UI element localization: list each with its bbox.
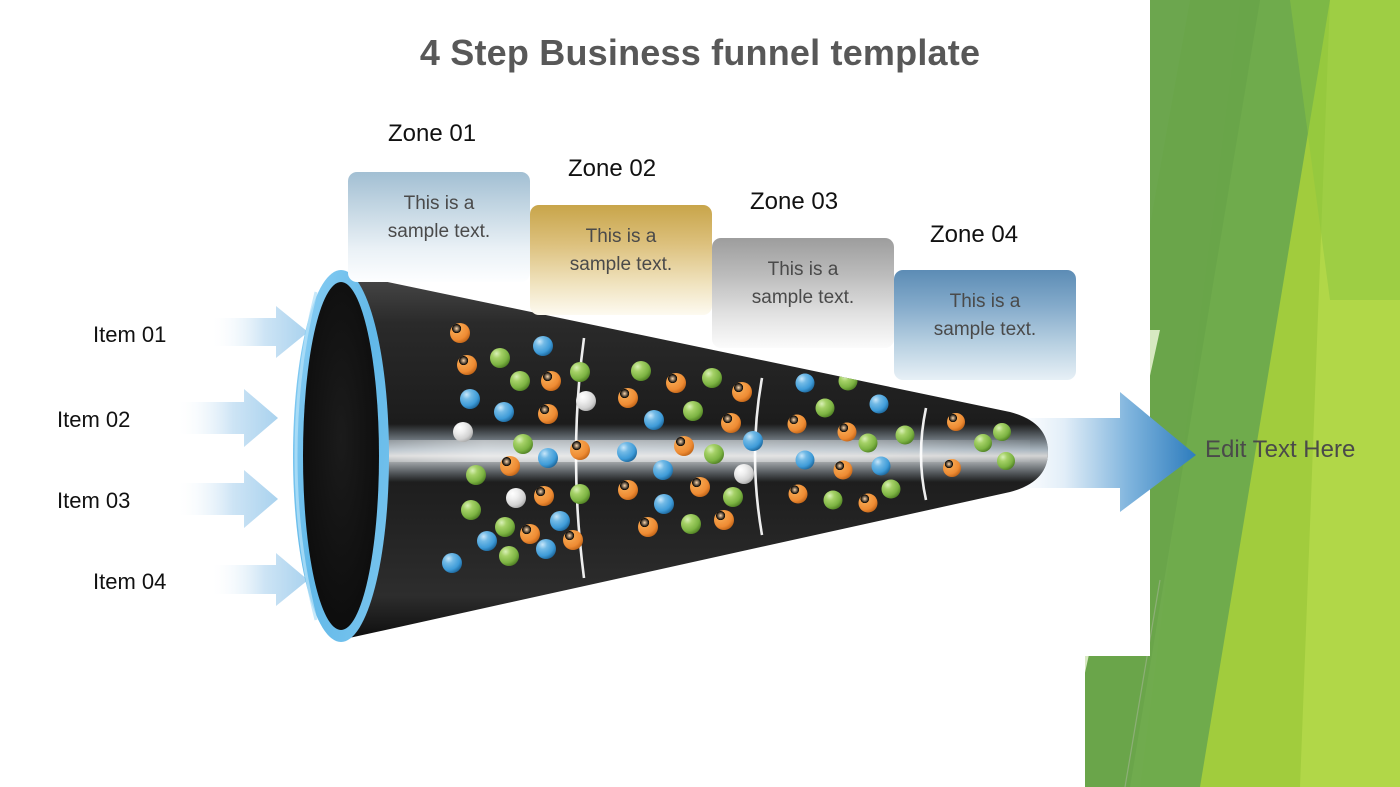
zone-box-3-line2: sample text. [752,284,854,312]
zone-box-1-line2: sample text. [388,218,490,246]
item-label-3[interactable]: Item 03 [57,488,130,514]
slide-canvas: 4 Step Business funnel template [0,0,1400,787]
zone-box-4-line1: This is a [934,288,1036,316]
zone-box-3[interactable]: This is a sample text. [712,238,894,348]
item-label-4[interactable]: Item 04 [93,569,166,595]
zone-box-4-line2: sample text. [934,316,1036,344]
zone-label-2: Zone 02 [568,155,656,183]
zone-box-4[interactable]: This is a sample text. [894,270,1076,380]
page-title: 4 Step Business funnel template [300,32,1100,74]
zone-box-1-line1: This is a [388,190,490,218]
zone-box-2[interactable]: This is a sample text. [530,205,712,315]
zone-label-4: Zone 04 [930,221,1018,249]
zone-label-1: Zone 01 [388,120,476,148]
zone-box-1[interactable]: This is a sample text. [348,172,530,282]
output-label[interactable]: Edit Text Here [1205,436,1355,464]
zone-box-2-line2: sample text. [570,251,672,279]
item-label-2[interactable]: Item 02 [57,407,130,433]
zone-box-2-line1: This is a [570,223,672,251]
item-label-1[interactable]: Item 01 [93,322,166,348]
content-card-lower [0,655,1085,787]
zone-box-3-line1: This is a [752,256,854,284]
zone-label-3: Zone 03 [750,188,838,216]
